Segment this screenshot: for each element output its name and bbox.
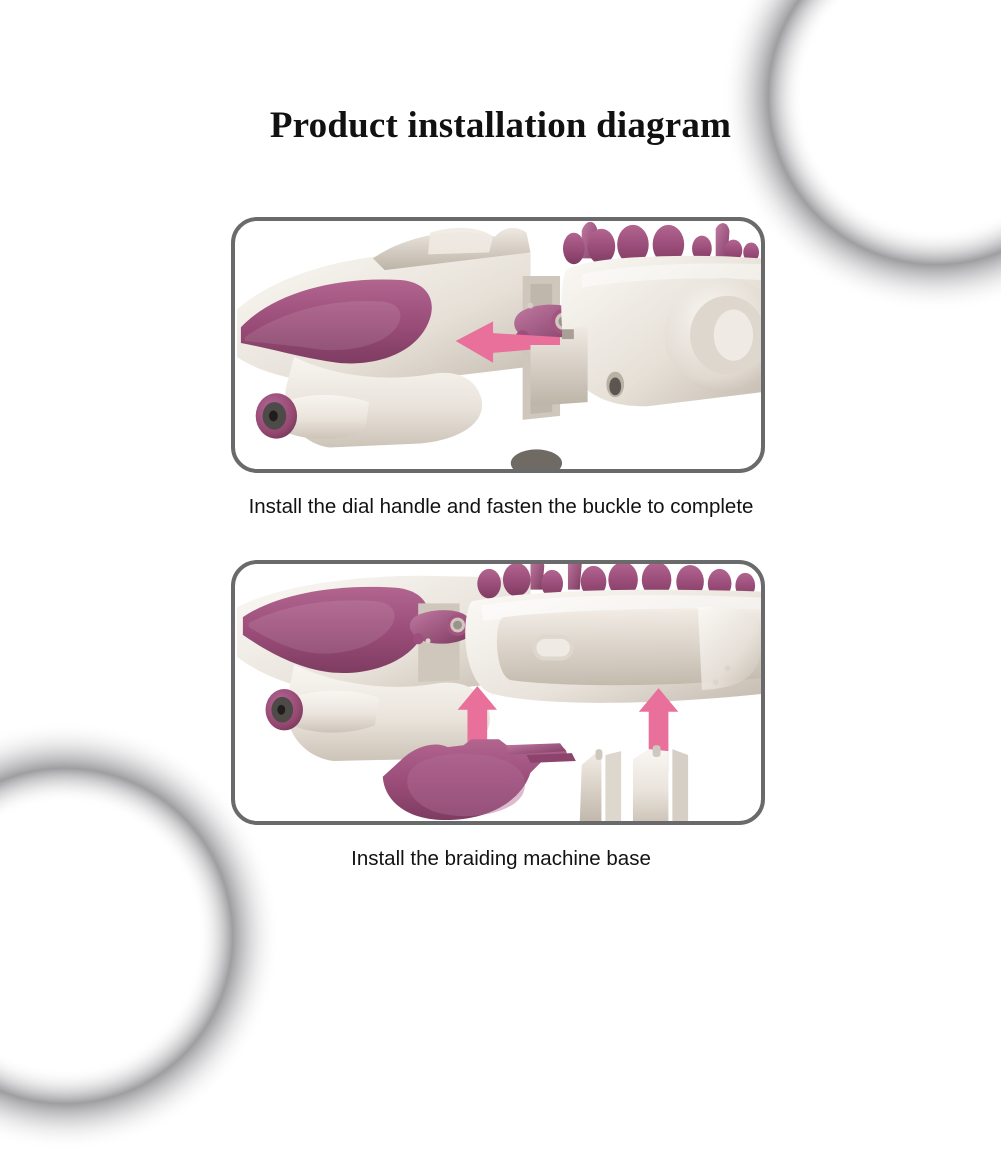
step-2-caption: Install the braiding machine base — [231, 847, 771, 871]
cream-stand-columns — [580, 745, 688, 821]
installation-step-1: Install the dial handle and fasten the b… — [231, 217, 771, 519]
installation-step-2: Install the braiding machine base — [231, 560, 771, 871]
step-2-illustration — [235, 564, 761, 821]
step-1-image-panel — [231, 217, 765, 473]
page-title: Product installation diagram — [0, 104, 1001, 147]
dial-handle-module — [531, 222, 761, 406]
step-1-caption: Install the dial handle and fasten the b… — [231, 495, 771, 519]
end-knob — [256, 393, 369, 439]
step-2-image-panel — [231, 560, 765, 825]
step-1-illustration — [235, 221, 761, 469]
end-knob — [266, 689, 379, 733]
assembled-braiding-machine — [237, 564, 761, 761]
base-fragment — [511, 449, 562, 469]
